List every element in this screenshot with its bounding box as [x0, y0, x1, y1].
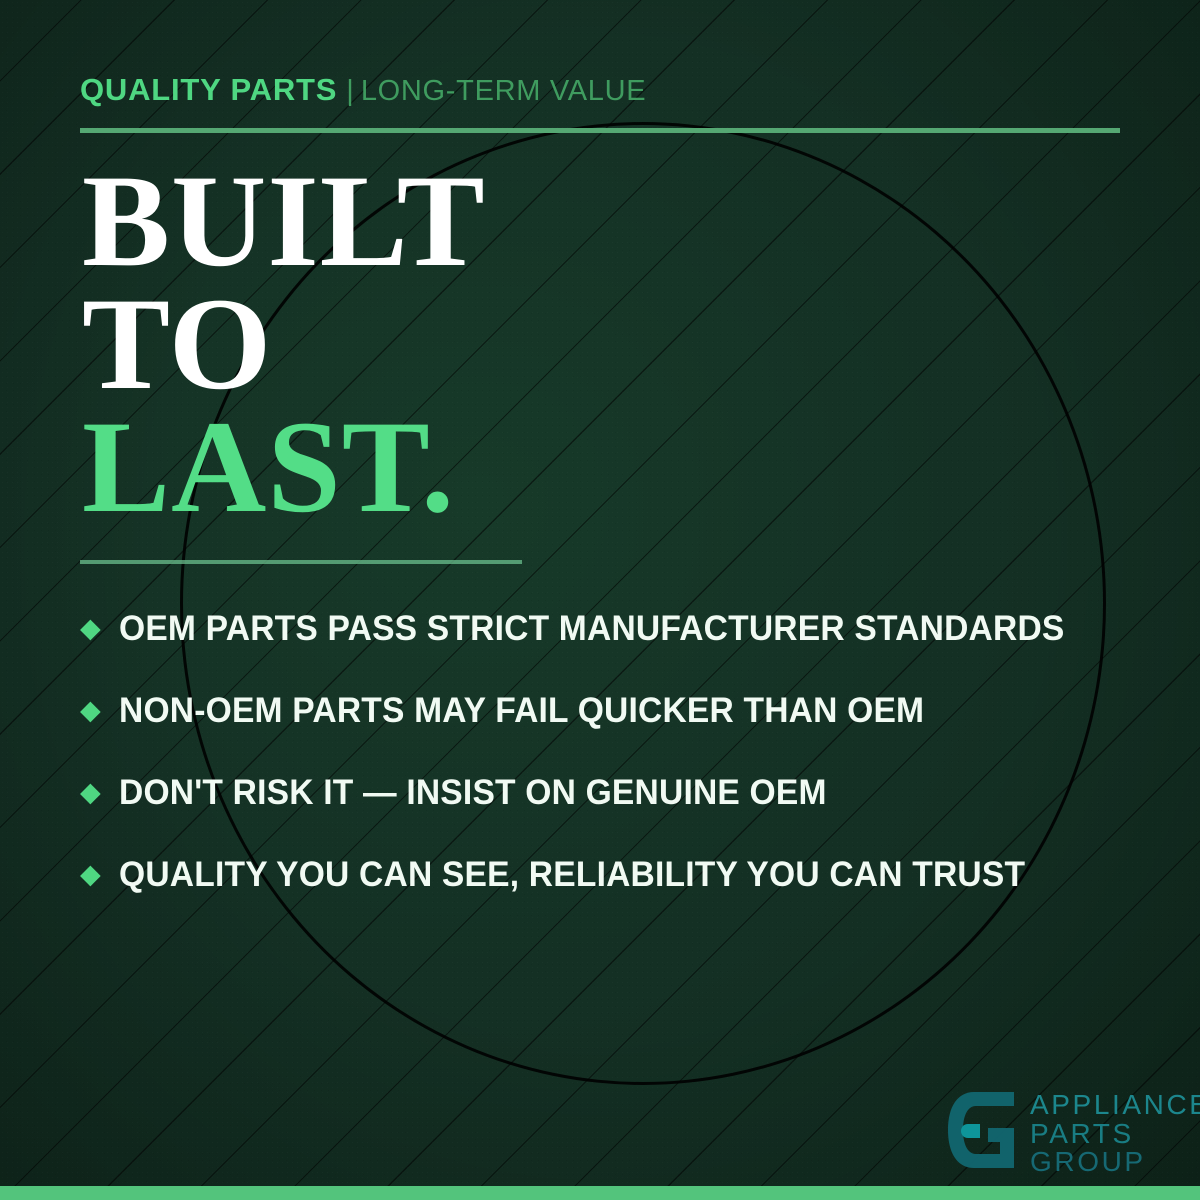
diamond-bullet-icon: ◆ — [80, 861, 101, 888]
kicker-main-label: QUALITY PARTS — [80, 72, 337, 107]
poster-canvas: QUALITY PARTS|LONG-TERM VALUE BUILT TO L… — [0, 0, 1200, 1200]
poster-content: QUALITY PARTS|LONG-TERM VALUE BUILT TO L… — [0, 0, 1200, 1200]
diamond-bullet-icon: ◆ — [80, 779, 101, 806]
brand-word-line-1: APPLIANCE — [1030, 1091, 1200, 1120]
kicker-sub-label: LONG-TERM VALUE — [361, 75, 647, 107]
list-item-label: QUALITY YOU CAN SEE, RELIABILITY YOU CAN… — [119, 855, 1099, 895]
brand-logo: APPLIANCE PARTS GROUP — [944, 1088, 1200, 1177]
headline-divider-rule — [80, 560, 522, 564]
list-item: ◆ OEM PARTS PASS STRICT MANUFACTURER STA… — [80, 588, 1140, 670]
diamond-bullet-icon: ◆ — [80, 615, 101, 642]
kicker-separator: | — [346, 75, 354, 107]
diamond-bullet-icon: ◆ — [80, 697, 101, 724]
kicker: QUALITY PARTS|LONG-TERM VALUE — [80, 74, 646, 106]
headline-line-1: BUILT — [82, 160, 486, 283]
headline: BUILT TO LAST. — [82, 160, 486, 528]
headline-line-2: TO — [82, 283, 486, 406]
brand-logo-wordmark: APPLIANCE PARTS GROUP — [1030, 1088, 1200, 1177]
list-item: ◆ NON-OEM PARTS MAY FAIL QUICKER THAN OE… — [80, 670, 1140, 752]
brand-word-line-2: PARTS — [1030, 1120, 1200, 1149]
list-item-label: OEM PARTS PASS STRICT MANUFACTURER STAND… — [119, 609, 1099, 649]
list-item-label: DON'T RISK IT — INSIST ON GENUINE OEM — [119, 773, 1099, 813]
g-monogram-icon — [944, 1088, 1018, 1172]
brand-word-line-3: GROUP — [1030, 1148, 1200, 1177]
headline-line-3: LAST. — [82, 406, 486, 529]
bullet-list: ◆ OEM PARTS PASS STRICT MANUFACTURER STA… — [80, 588, 1140, 916]
header-divider-rule — [80, 128, 1120, 133]
list-item-label: NON-OEM PARTS MAY FAIL QUICKER THAN OEM — [119, 691, 1099, 731]
list-item: ◆ DON'T RISK IT — INSIST ON GENUINE OEM — [80, 752, 1140, 834]
list-item: ◆ QUALITY YOU CAN SEE, RELIABILITY YOU C… — [80, 834, 1140, 916]
